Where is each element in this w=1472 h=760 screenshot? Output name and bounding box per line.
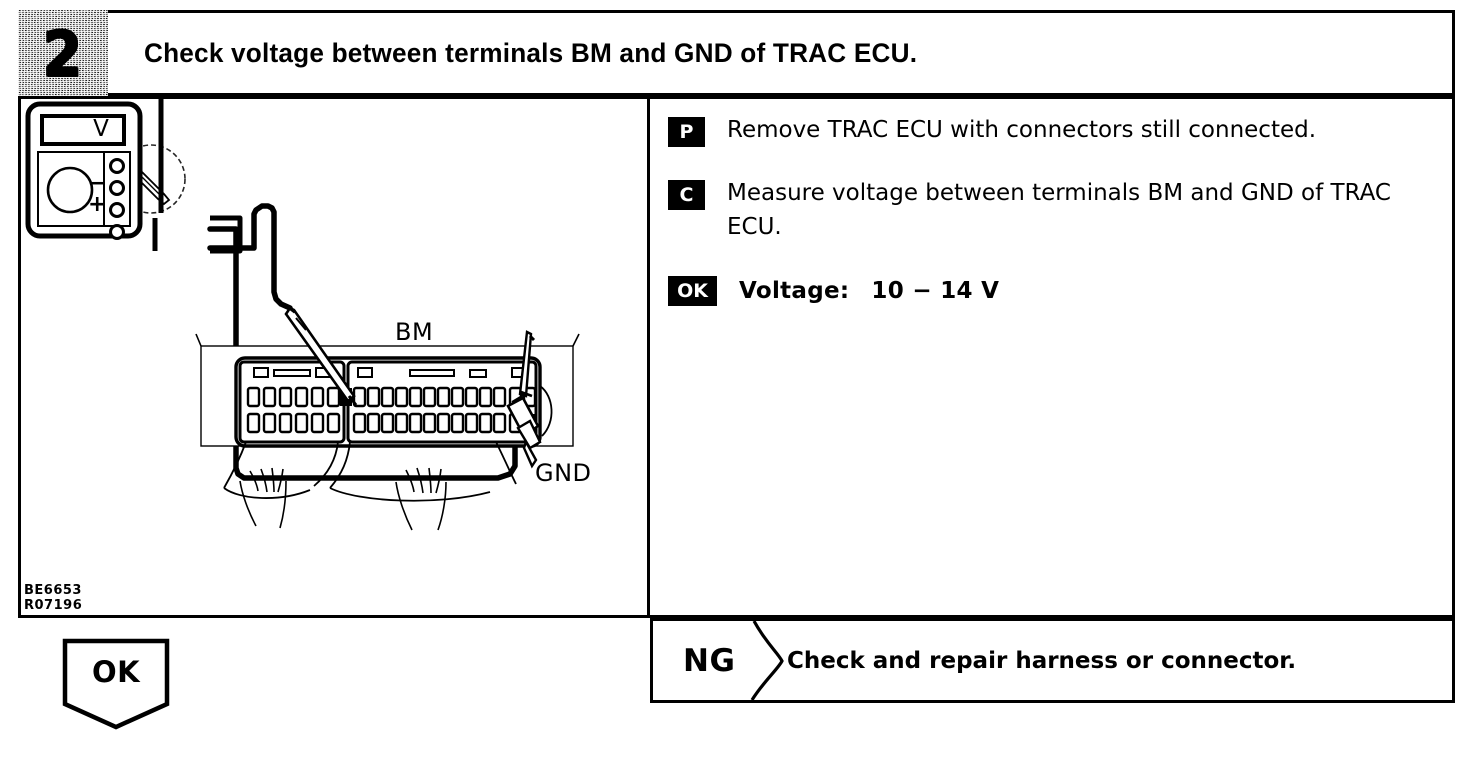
illustration-panel: LOCK xyxy=(18,96,647,618)
outcome-ng-row: NG Check and repair harness or connector… xyxy=(650,618,1455,703)
result-value: 10 − 14 V xyxy=(871,278,999,304)
outcome-ok-badge: OK xyxy=(62,638,170,730)
probe-bm-label: BM xyxy=(395,318,433,346)
wiring-test-diagram xyxy=(18,96,647,618)
instructions-panel: P Remove TRAC ECU with connectors still … xyxy=(650,96,1455,618)
step-header: Check voltage between terminals BM and G… xyxy=(108,10,1455,96)
figure-reference-code-2: R07196 xyxy=(24,599,82,614)
probe-gnd-label: GND xyxy=(535,459,592,487)
outcome-ng-action: Check and repair harness or connector. xyxy=(787,648,1296,674)
instruction-tag-ok: OK xyxy=(668,276,717,306)
instruction-text-prepare: Remove TRAC ECU with connectors still co… xyxy=(727,114,1417,148)
figure-reference-code-1: BE6653 xyxy=(24,584,82,599)
outcome-ok-label: OK xyxy=(62,638,170,706)
outcome-ng-label: NG xyxy=(683,643,735,679)
multimeter-display-value: V xyxy=(71,116,131,142)
instruction-tag-p: P xyxy=(668,117,705,147)
instruction-row-prepare: P Remove TRAC ECU with connectors still … xyxy=(668,114,1431,148)
step-number-badge: 2 xyxy=(18,10,108,96)
instruction-text-check: Measure voltage between terminals BM and… xyxy=(727,177,1417,245)
multimeter-positive-label: + xyxy=(88,192,106,217)
result-label: Voltage: xyxy=(739,278,849,304)
instruction-tag-c: C xyxy=(668,180,705,210)
figure-reference-code: BE6653 R07196 xyxy=(24,584,82,614)
service-manual-step-page: 2 Check voltage between terminals BM and… xyxy=(0,0,1472,760)
page-title: Check voltage between terminals BM and G… xyxy=(144,38,917,69)
instruction-row-check: C Measure voltage between terminals BM a… xyxy=(668,177,1431,245)
instruction-row-result: OK Voltage:10 − 14 V xyxy=(668,273,1431,309)
step-number-label: 2 xyxy=(43,24,83,86)
instruction-text-result: Voltage:10 − 14 V xyxy=(739,275,999,309)
